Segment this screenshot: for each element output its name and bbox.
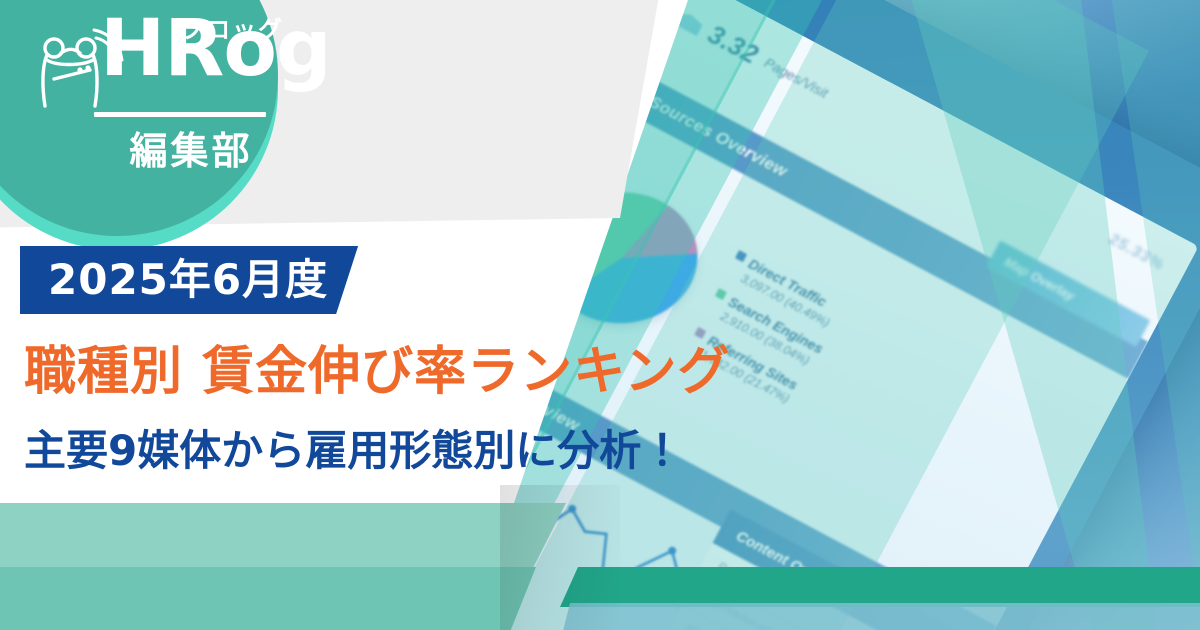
- footer-bands: [0, 485, 1200, 630]
- logo-brand-text: HRog: [100, 10, 331, 88]
- footer-band-steel: [560, 603, 1200, 630]
- main-headline: 職種別 賃金伸び率ランキング: [24, 344, 731, 401]
- sub-headline: 主要9媒体から雇用形態別に分析！: [24, 428, 683, 474]
- hrog-logo[interactable]: フロッグ HRog 編集部: [12, 8, 292, 188]
- date-ribbon: 2025年6月度: [20, 246, 358, 314]
- logo-divider: [94, 112, 266, 117]
- banner-canvas: 3.32 Pages/Visit Traffic Sources Overvie…: [0, 0, 1200, 630]
- logo-subtitle: 編集部: [96, 120, 286, 175]
- date-label: 2025年6月度: [48, 259, 328, 301]
- logo-primary-row: フロッグ HRog: [12, 8, 292, 118]
